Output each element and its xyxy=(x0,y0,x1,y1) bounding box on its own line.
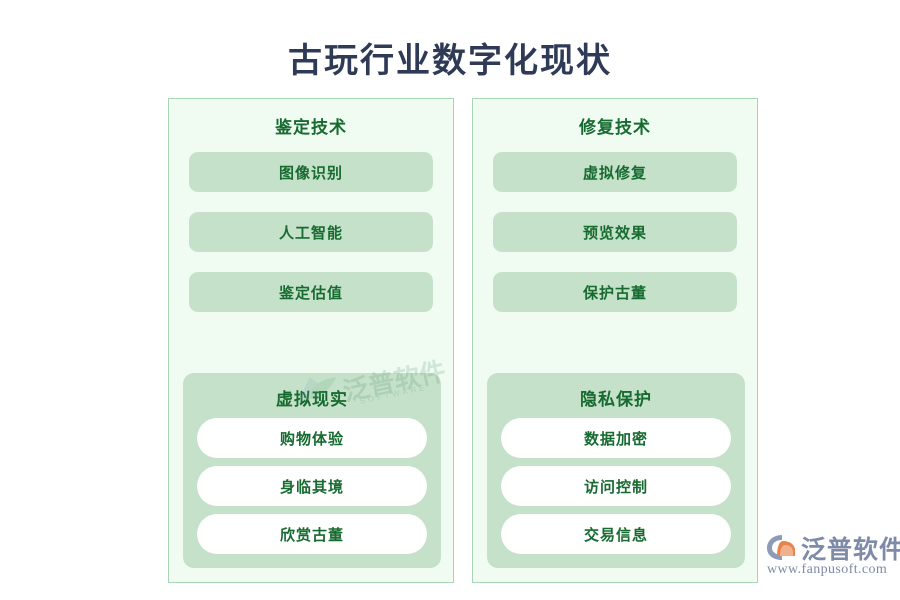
columns-container: 鉴定技术 图像识别 人工智能 鉴定估值 虚拟现实 购物体验 身临其境 欣赏古董 … xyxy=(168,98,758,583)
list-item[interactable]: 预览效果 xyxy=(493,212,737,252)
list-item[interactable]: 人工智能 xyxy=(189,212,433,252)
section-virtual-reality: 虚拟现实 购物体验 身临其境 欣赏古董 xyxy=(183,373,441,568)
section-identification: 鉴定技术 图像识别 人工智能 鉴定估值 xyxy=(169,99,453,322)
section-title-identification: 鉴定技术 xyxy=(189,113,433,138)
list-item[interactable]: 图像识别 xyxy=(189,152,433,192)
list-item[interactable]: 交易信息 xyxy=(501,514,731,554)
poster-canvas: 古玩行业数字化现状 鉴定技术 图像识别 人工智能 鉴定估值 虚拟现实 购物体验 … xyxy=(0,0,900,600)
list-item[interactable]: 身临其境 xyxy=(197,466,427,506)
list-item[interactable]: 购物体验 xyxy=(197,418,427,458)
left-panel: 鉴定技术 图像识别 人工智能 鉴定估值 虚拟现实 购物体验 身临其境 欣赏古董 xyxy=(168,98,454,583)
left-panel-inner: 鉴定技术 图像识别 人工智能 鉴定估值 虚拟现实 购物体验 身临其境 欣赏古董 xyxy=(169,99,453,582)
brand-name: 泛普软件 xyxy=(801,530,900,566)
list-item[interactable]: 虚拟修复 xyxy=(493,152,737,192)
brand-url: www.fanpusoft.com xyxy=(767,562,887,578)
brand-logo: 泛普软件 www.fanpusoft.com xyxy=(765,530,895,588)
right-panel: 修复技术 虚拟修复 预览效果 保护古董 隐私保护 数据加密 访问控制 交易信息 xyxy=(472,98,758,583)
page-title: 古玩行业数字化现状 xyxy=(0,40,900,84)
right-panel-inner: 修复技术 虚拟修复 预览效果 保护古董 隐私保护 数据加密 访问控制 交易信息 xyxy=(473,99,757,582)
section-title-restoration: 修复技术 xyxy=(493,113,737,138)
list-item[interactable]: 欣赏古董 xyxy=(197,514,427,554)
section-privacy-protection: 隐私保护 数据加密 访问控制 交易信息 xyxy=(487,373,745,568)
section-title-privacy-protection: 隐私保护 xyxy=(501,385,731,410)
list-item[interactable]: 保护古董 xyxy=(493,272,737,312)
list-item[interactable]: 数据加密 xyxy=(501,418,731,458)
section-restoration: 修复技术 虚拟修复 预览效果 保护古董 xyxy=(473,99,757,322)
list-item[interactable]: 访问控制 xyxy=(501,466,731,506)
section-title-virtual-reality: 虚拟现实 xyxy=(197,385,427,410)
list-item[interactable]: 鉴定估值 xyxy=(189,272,433,312)
